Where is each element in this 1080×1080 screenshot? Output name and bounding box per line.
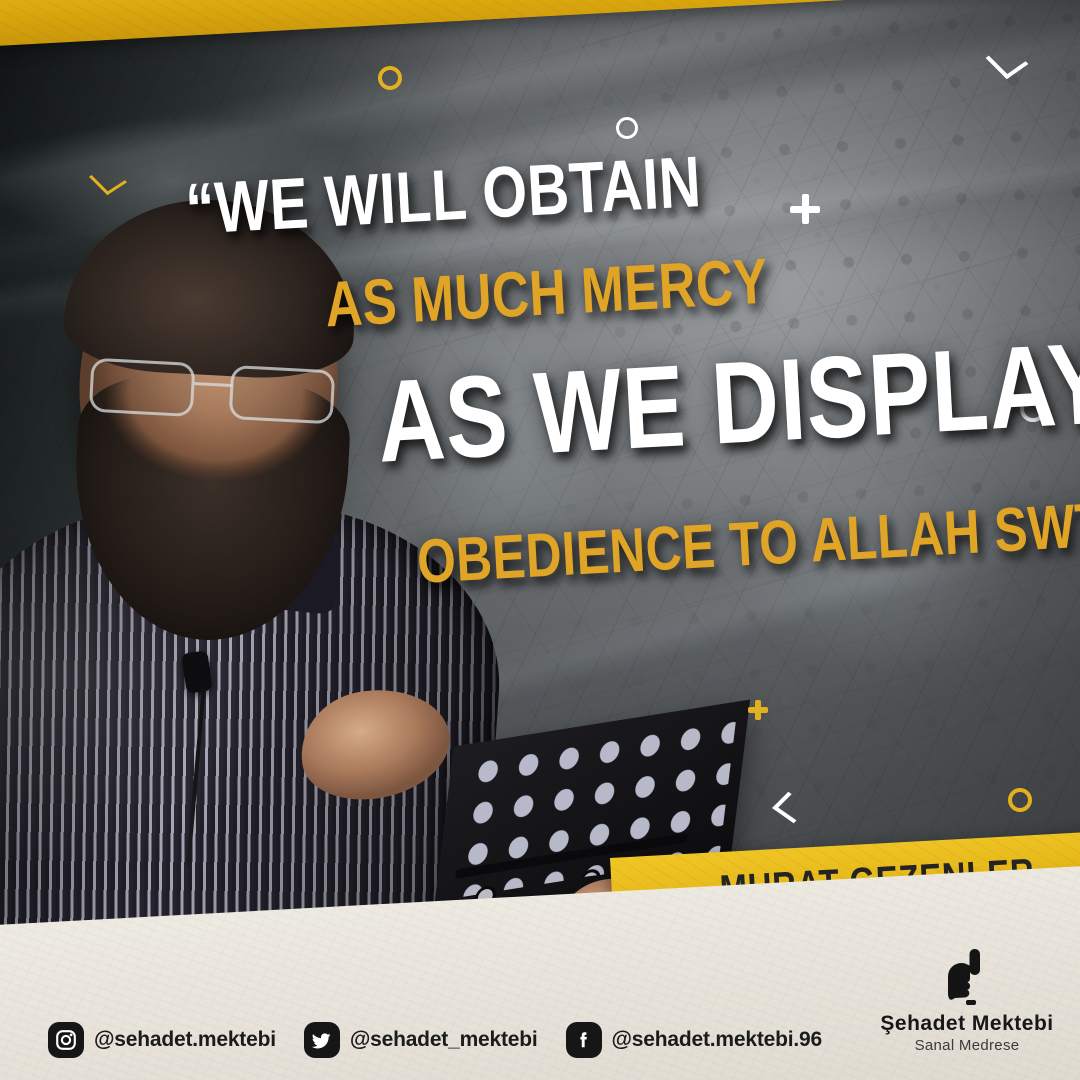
- instagram-handle: @sehadet.mektebi: [94, 1028, 276, 1052]
- social-twitter[interactable]: @sehadet_mektebi: [304, 1022, 538, 1058]
- brand-name: Şehadet Mektebi: [872, 1012, 1062, 1036]
- social-instagram[interactable]: @sehadet.mektebi: [48, 1022, 276, 1058]
- instagram-icon[interactable]: [48, 1022, 84, 1058]
- facebook-handle: @sehadet.mektebi.96: [612, 1028, 822, 1052]
- quote-block: “WE WILL OBTAIN AS MUCH MERCY AS WE DISP…: [0, 99, 1080, 677]
- circle-outline-icon-yellow-lowerright: [1008, 788, 1032, 812]
- quote-line-4: OBEDIENCE TO ALLAH SWT.”: [415, 488, 1080, 598]
- quote-card: “WE WILL OBTAIN AS MUCH MERCY AS WE DISP…: [0, 0, 1080, 1080]
- raised-index-finger-icon: [872, 946, 1062, 1008]
- twitter-icon[interactable]: [304, 1022, 340, 1058]
- quote-line-3: AS WE DISPLAY: [374, 315, 1080, 489]
- facebook-icon[interactable]: [566, 1022, 602, 1058]
- plus-icon-yellow-lower: [748, 700, 768, 720]
- quote-line-2: AS MUCH MERCY: [323, 244, 770, 342]
- quote-line-1: “WE WILL OBTAIN: [184, 141, 703, 251]
- brand-logo[interactable]: Şehadet Mektebi Sanal Medrese: [872, 946, 1062, 1054]
- circle-outline-icon-yellow-top: [378, 66, 402, 90]
- social-facebook[interactable]: @sehadet.mektebi.96: [566, 1022, 822, 1058]
- brand-subtitle: Sanal Medrese: [872, 1037, 1062, 1054]
- social-links: @sehadet.mektebi @sehadet_mektebi @sehad…: [48, 1022, 850, 1058]
- twitter-handle: @sehadet_mektebi: [350, 1028, 538, 1052]
